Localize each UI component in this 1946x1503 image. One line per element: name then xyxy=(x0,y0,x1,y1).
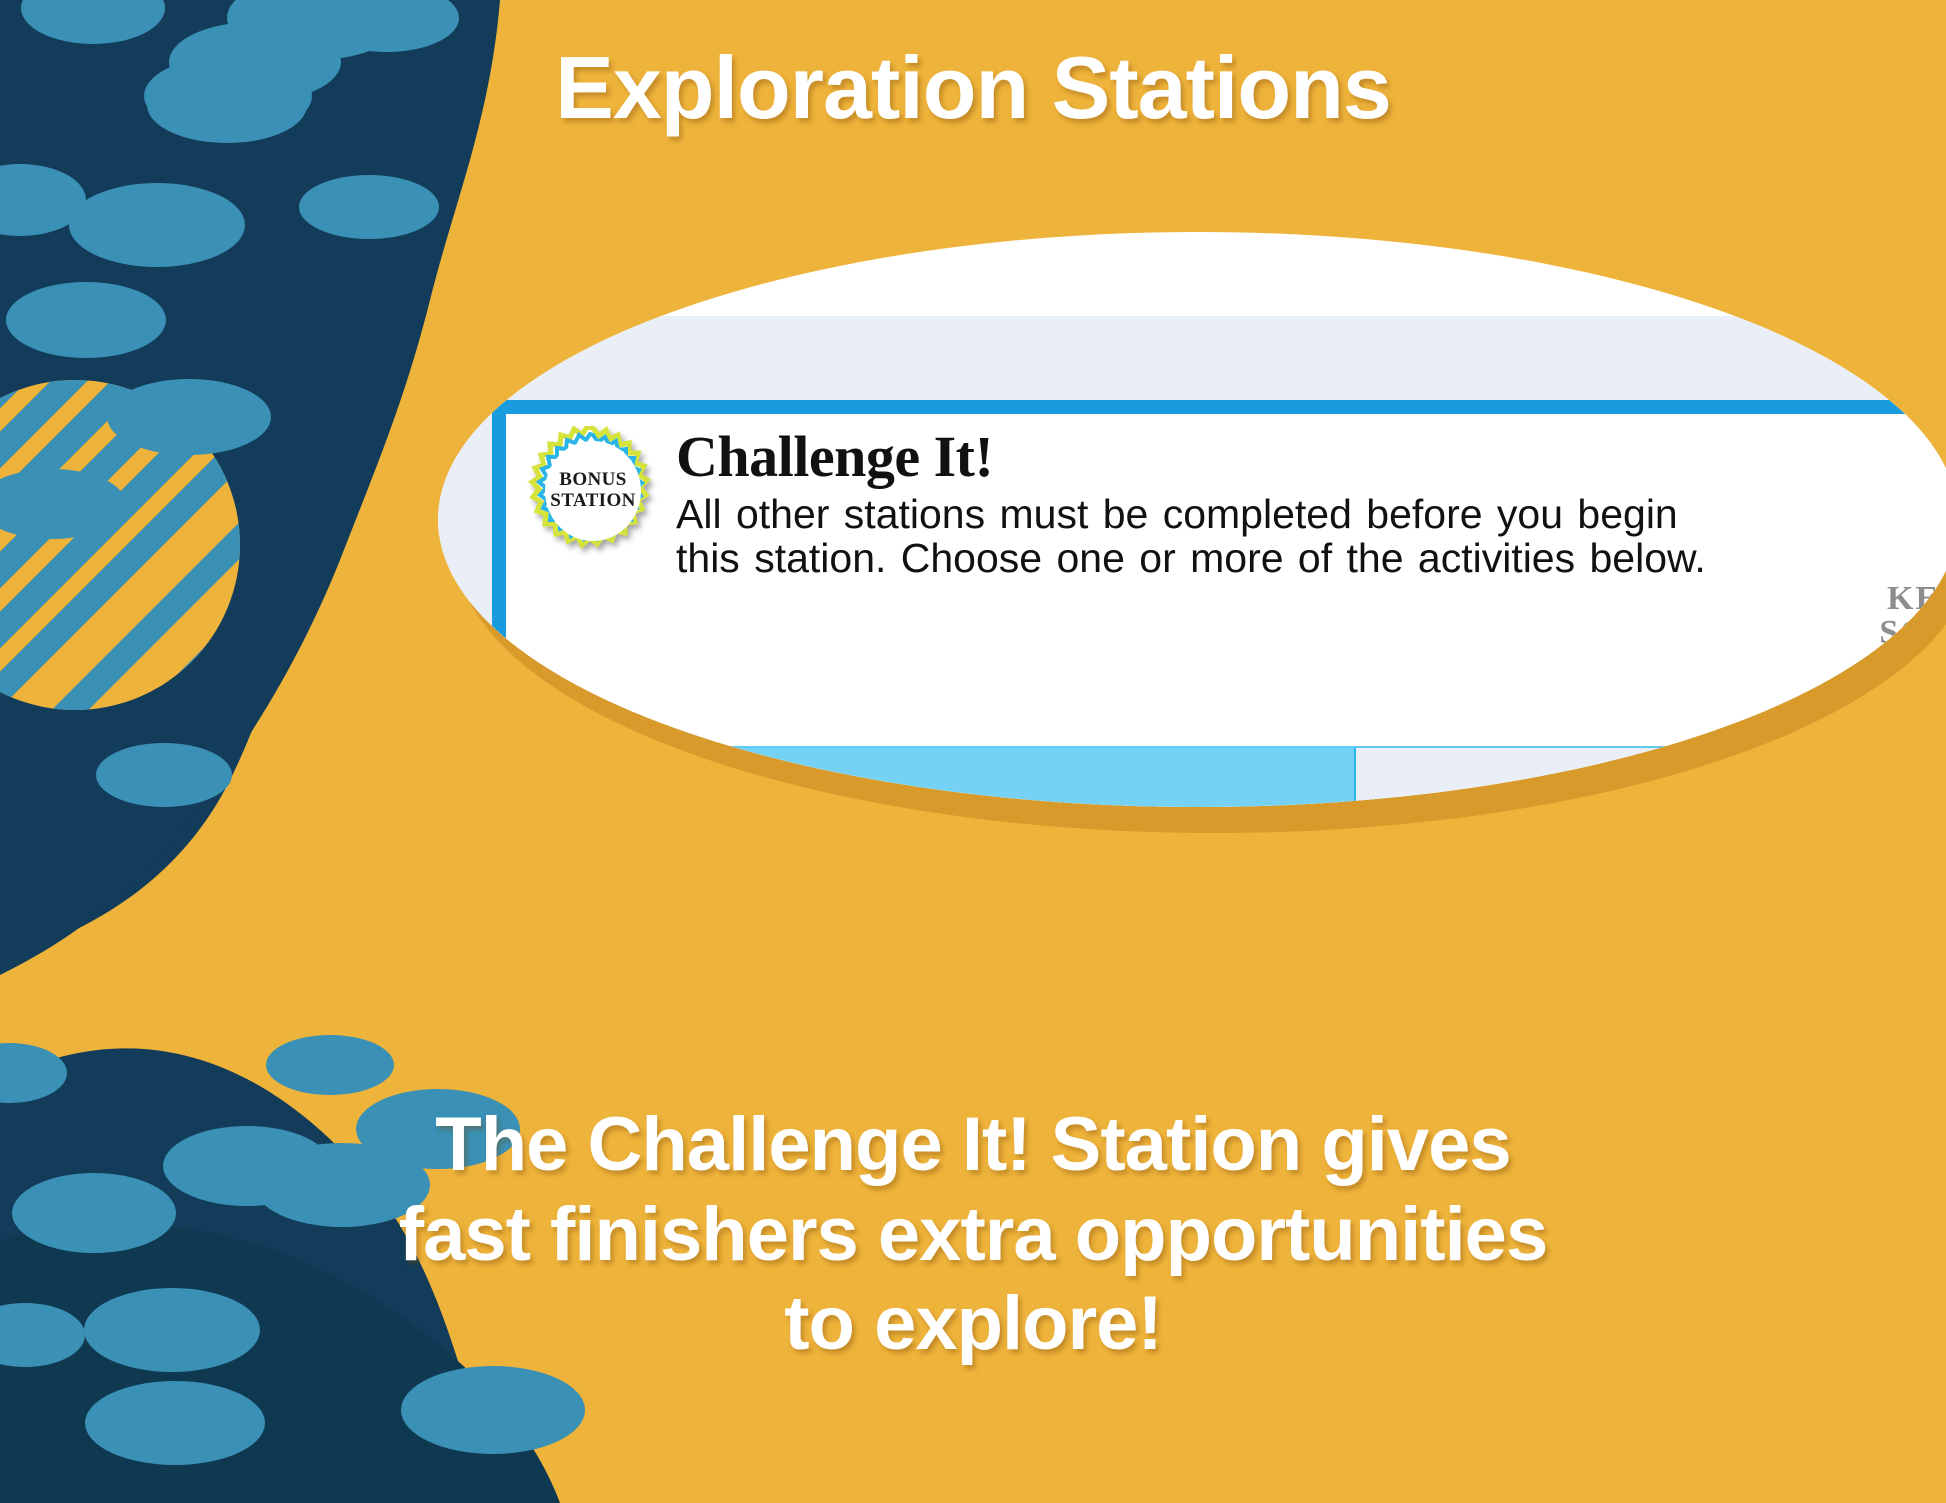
activity-cell-song[interactable]: SONG xyxy=(668,748,1356,807)
caption-text: The Challenge It! Station gives fast fin… xyxy=(373,1100,1573,1369)
page-title: Exploration Stations xyxy=(0,44,1946,132)
logo-line-2: SCIENCE xyxy=(1832,616,1946,650)
worksheet-preview[interactable]: BONUS STATION Challenge It! All other st… xyxy=(438,232,1946,807)
badge-line-2: STATION xyxy=(550,491,636,512)
worksheet-content: BONUS STATION Challenge It! All other st… xyxy=(492,400,1946,807)
badge-line-1: BONUS xyxy=(559,470,626,491)
worksheet-instructions: All other stations must be completed bef… xyxy=(676,492,1736,581)
worksheet-header-block: Challenge It! All other stations must be… xyxy=(676,428,1776,581)
activity-cell-social-media-post[interactable]: SOCIAL MEDIA POST xyxy=(1356,748,1946,807)
logo-swoosh-icon xyxy=(1867,654,1946,681)
slide-canvas: Exploration Stations BONUS STATION xyxy=(0,0,1946,1503)
worksheet-title: Challenge It! xyxy=(676,428,1776,486)
bonus-station-badge: BONUS STATION xyxy=(528,426,658,556)
activity-table: SONG SOCIAL MEDIA POST xyxy=(666,746,1946,807)
worksheet-page: BONUS STATION Challenge It! All other st… xyxy=(438,316,1946,807)
kesler-science-logo: KESLER SCIENCE xyxy=(1832,582,1946,681)
logo-line-1: KESLER xyxy=(1832,582,1946,616)
